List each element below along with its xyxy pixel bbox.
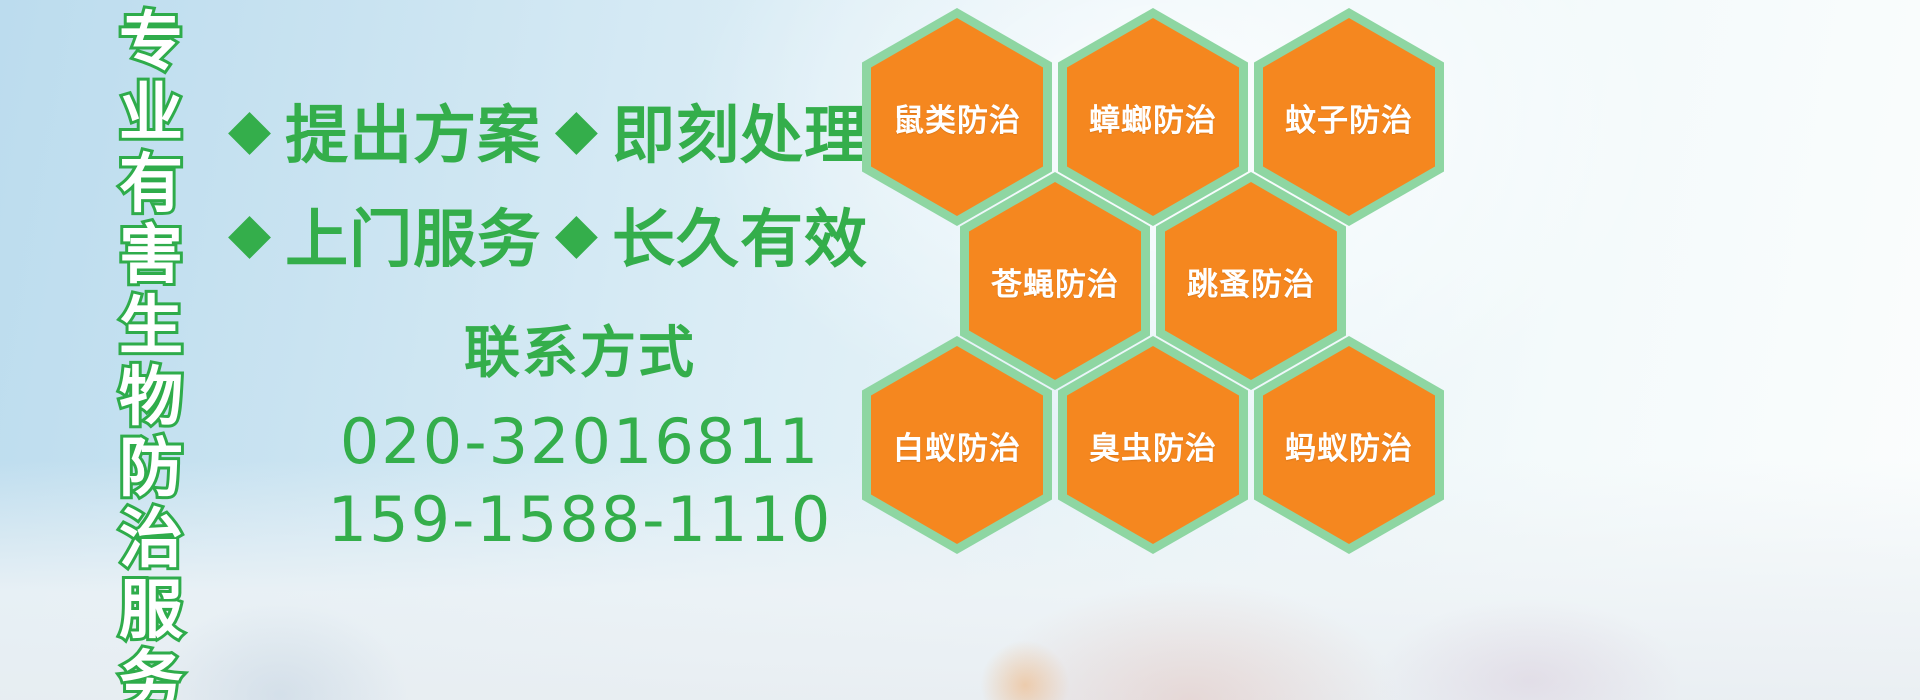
diamond-icon: ◆ bbox=[555, 102, 598, 158]
feature-label: 长久有效 bbox=[612, 189, 868, 280]
feature-label: 上门服务 bbox=[285, 189, 541, 280]
service-label: 白蚁防治 bbox=[893, 423, 1021, 468]
service-label: 蟑螂防治 bbox=[1089, 95, 1217, 140]
vertical-slogan: 专 业 有 害 生 物 防 治 服 务 bbox=[105, 8, 197, 700]
service-label: 臭虫防治 bbox=[1089, 423, 1217, 468]
hex-inner: 臭虫防治 bbox=[1067, 346, 1239, 544]
diamond-icon: ◆ bbox=[228, 102, 271, 158]
hex-inner: 苍蝇防治 bbox=[969, 182, 1141, 380]
background-blob-right bbox=[1380, 600, 1680, 700]
service-label: 蚊子防治 bbox=[1285, 95, 1413, 140]
background-blob-orange bbox=[980, 640, 1070, 700]
hex-inner: 跳蚤防治 bbox=[1165, 182, 1337, 380]
vertical-slogan-char: 治 bbox=[119, 505, 183, 576]
diamond-icon: ◆ bbox=[555, 206, 598, 262]
feature-row: ◆ 上门服务 ◆ 长久有效 bbox=[228, 182, 868, 286]
vertical-slogan-char: 害 bbox=[119, 221, 183, 292]
banner-root: 专 业 有 害 生 物 防 治 服 务 ◆ 提出方案 ◆ 即刻处理 ◆ 上门服务… bbox=[0, 0, 1920, 700]
vertical-slogan-char: 业 bbox=[119, 79, 183, 150]
service-honeycomb: 鼠类防治 蟑螂防治 蚊子防治 苍蝇防治 跳蚤防治 白蚁防 bbox=[862, 0, 1462, 580]
phone-number-mobile[interactable]: 159-1588-1110 bbox=[300, 481, 860, 559]
vertical-slogan-char: 服 bbox=[119, 576, 183, 647]
contact-title: 联系方式 bbox=[300, 308, 860, 389]
hex-inner: 蚂蚁防治 bbox=[1263, 346, 1435, 544]
vertical-slogan-char: 生 bbox=[119, 292, 183, 363]
vertical-slogan-char: 物 bbox=[119, 363, 183, 434]
phone-number-landline[interactable]: 020-32016811 bbox=[300, 403, 860, 481]
hex-inner: 蟑螂防治 bbox=[1067, 18, 1239, 216]
vertical-slogan-char: 务 bbox=[119, 647, 183, 700]
service-label: 跳蚤防治 bbox=[1187, 259, 1315, 304]
feature-row: ◆ 提出方案 ◆ 即刻处理 bbox=[228, 78, 868, 182]
service-label: 苍蝇防治 bbox=[991, 259, 1119, 304]
hex-inner: 鼠类防治 bbox=[871, 18, 1043, 216]
vertical-slogan-char: 防 bbox=[119, 434, 183, 505]
hex-inner: 蚊子防治 bbox=[1263, 18, 1435, 216]
vertical-slogan-char: 有 bbox=[119, 150, 183, 221]
hex-inner: 白蚁防治 bbox=[871, 346, 1043, 544]
feature-label: 提出方案 bbox=[285, 85, 541, 176]
vertical-slogan-char: 专 bbox=[119, 8, 183, 79]
service-label: 蚂蚁防治 bbox=[1285, 423, 1413, 468]
service-label: 鼠类防治 bbox=[893, 95, 1021, 140]
feature-list: ◆ 提出方案 ◆ 即刻处理 ◆ 上门服务 ◆ 长久有效 bbox=[228, 78, 868, 286]
diamond-icon: ◆ bbox=[228, 206, 271, 262]
contact-block: 联系方式 020-32016811 159-1588-1110 bbox=[300, 308, 860, 559]
feature-label: 即刻处理 bbox=[612, 85, 868, 176]
